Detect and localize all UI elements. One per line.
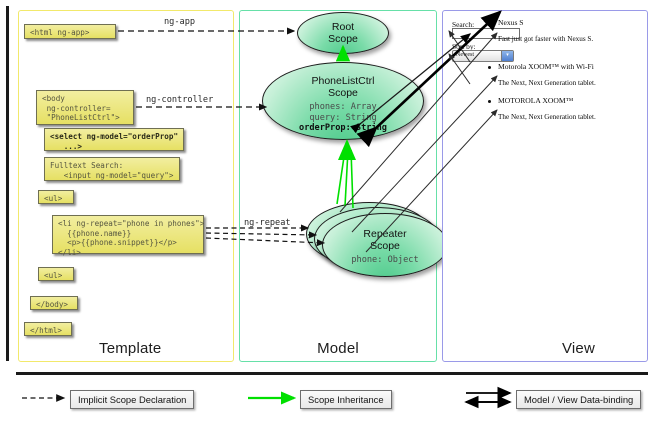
edge-label-ng-repeat: ng-repeat (244, 218, 291, 228)
phone-snippet: The Next, Next Generation tablet. (498, 79, 596, 87)
edge-label-ng-app: ng-app (164, 17, 195, 27)
legend-label-binding: Model / View Data-binding (516, 390, 641, 409)
edge-label-ng-controller: ng-controller (146, 95, 213, 105)
list-item[interactable]: MOTOROLA XOOM™ The Next, Next Generation… (498, 96, 596, 121)
scope-ctrl-props: phones: Array query: String orderProp: S… (263, 102, 423, 134)
list-item[interactable]: Nexus S Fast just got faster with Nexus … (498, 18, 593, 43)
scope-ctrl-prop-orderprop: orderProp: String (263, 123, 423, 134)
scope-ctrl-title-1: PhoneListCtrl (263, 75, 423, 87)
panel-model-label: Model (240, 340, 436, 357)
code-box-li-repeat: <li ng-repeat="phone in phones"> {{phone… (52, 215, 204, 254)
scope-ctrl-prop-query: query: String (263, 113, 423, 124)
sort-select[interactable]: Newest ▾ (452, 50, 514, 62)
scope-repeater-title-1: Repeater (323, 228, 447, 240)
phone-name: Nexus S (498, 18, 593, 27)
legend-arrow-binding (466, 393, 510, 402)
page-left-rule (6, 6, 9, 361)
bullet-icon (488, 100, 491, 103)
phone-name: Motorola XOOM™ with Wi-Fi (498, 62, 596, 71)
scope-ctrl-title-2: Scope (263, 87, 423, 99)
scope-repeater-props: phone: Object (323, 255, 447, 266)
code-box-search-input: Fulltext Search: <input ng-model="query"… (44, 157, 180, 181)
chevron-updown-icon[interactable]: ▾ (501, 51, 513, 61)
legend-divider (16, 372, 648, 375)
phone-name: MOTOROLA XOOM™ (498, 96, 596, 105)
scope-root-title-1: Root (298, 21, 388, 33)
legend-label-inheritance: Scope Inheritance (300, 390, 392, 409)
code-box-html-open: <html ng-app> (24, 24, 116, 39)
sort-select-value: Newest (456, 52, 474, 58)
panel-view-label: View (443, 340, 647, 357)
legend-label-implicit: Implicit Scope Declaration (70, 390, 194, 409)
scope-root: Root Scope (297, 12, 389, 54)
phone-snippet: Fast just got faster with Nexus S. (498, 35, 593, 43)
scope-phonelistctrl: PhoneListCtrl Scope phones: Array query:… (262, 62, 424, 140)
list-item[interactable]: Motorola XOOM™ with Wi-Fi The Next, Next… (498, 62, 596, 87)
diagram-root: Template <html ng-app> <body ng-controll… (0, 0, 661, 425)
code-box-body-open: <body ng-controller= "PhoneListCtrl"> (36, 90, 134, 125)
scope-repeater: Repeater Scope phone: Object (322, 213, 448, 277)
scope-ctrl-prop-phones: phones: Array (263, 102, 423, 113)
code-box-select: <select ng-model="orderProp" ...> (44, 128, 184, 151)
scope-root-title-2: Scope (298, 33, 388, 45)
panel-template-label: Template (19, 340, 233, 357)
bullet-icon (488, 22, 491, 25)
code-box-html-close: </html> (24, 322, 72, 336)
code-box-ul-open: <ul> (38, 190, 74, 204)
code-box-body-close: </body> (30, 296, 78, 310)
scope-repeater-prop-phone: phone: Object (323, 255, 447, 266)
phone-snippet: The Next, Next Generation tablet. (498, 113, 596, 121)
scope-repeater-title-2: Scope (323, 240, 447, 252)
code-box-ul-close: <ul> (38, 267, 74, 281)
bullet-icon (488, 66, 491, 69)
